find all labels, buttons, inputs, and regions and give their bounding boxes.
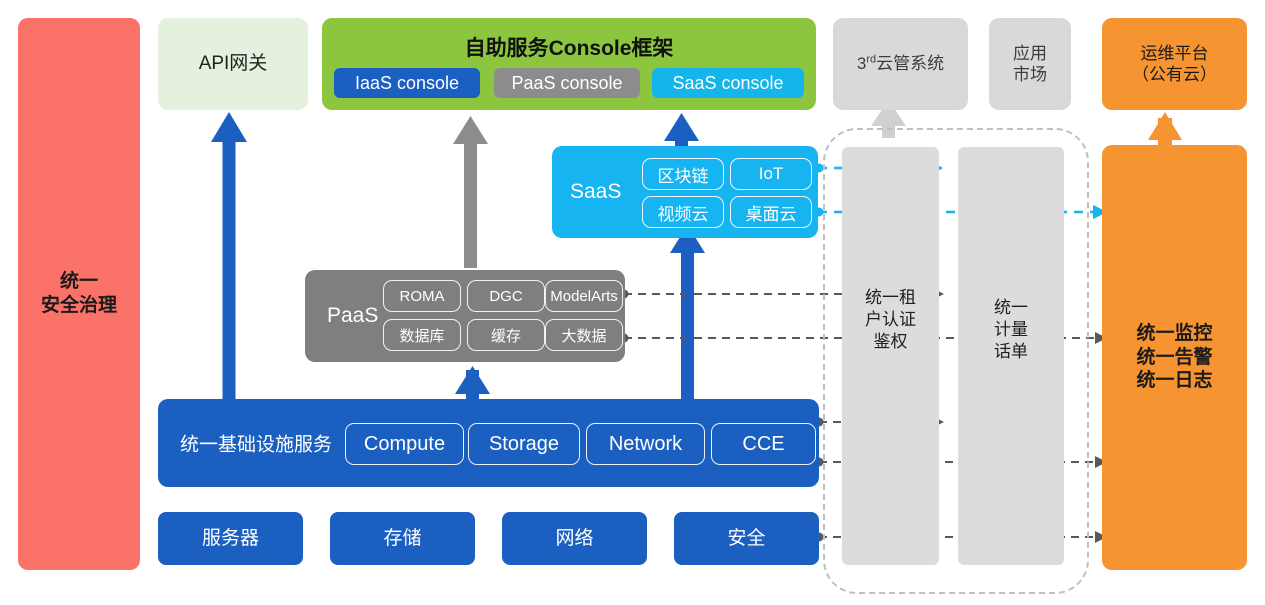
api-gateway-box[interactable]: API网关: [158, 18, 308, 110]
saas-item-desktop-cloud-label: 桌面云: [746, 200, 797, 225]
saas-item-video-cloud[interactable]: 视频云: [642, 196, 724, 228]
metering-billing-column[interactable]: 统一 计量 话单: [958, 147, 1064, 565]
resource-box-security[interactable]: 安全: [674, 512, 819, 565]
ops-column-line3: 统一日志: [1136, 369, 1212, 393]
app-market-box[interactable]: 应用 市场: [989, 18, 1071, 110]
security-governance-line1: 统一: [60, 270, 98, 294]
infra-item-network-label: Network: [609, 433, 682, 456]
third-party-cloud-management-label: 3rd云管系统: [857, 53, 944, 74]
arrow-infra-to-api-gateway: [211, 112, 247, 412]
saas-panel[interactable]: SaaS 区块链 IoT 视频云 桌面云: [552, 146, 818, 238]
saas-item-iot-label: IoT: [759, 164, 784, 184]
tenant-auth-column[interactable]: 统一租 户认证 鉴权: [842, 147, 939, 565]
infra-item-storage-label: Storage: [489, 433, 559, 456]
paas-item-cache[interactable]: 缓存: [467, 319, 545, 351]
infra-item-cce[interactable]: CCE: [711, 423, 816, 465]
metering-billing-column-text: 统一 计量 话单: [958, 297, 1064, 363]
third-party-suffix: 云管系统: [876, 54, 944, 73]
infra-item-cce-label: CCE: [742, 433, 784, 456]
paas-item-roma-label: ROMA: [400, 288, 445, 305]
ops-column[interactable]: 统一监控 统一告警 统一日志: [1102, 145, 1247, 570]
chip-saas-console[interactable]: SaaS console: [652, 68, 804, 98]
third-party-cloud-management-box[interactable]: 3rd云管系统: [833, 18, 968, 110]
app-market-line2: 市场: [1013, 64, 1047, 85]
tenant-auth-line3: 鉴权: [842, 331, 939, 353]
chip-iaas-console[interactable]: IaaS console: [334, 68, 480, 98]
saas-item-blockchain[interactable]: 区块链: [642, 158, 724, 190]
saas-item-iot[interactable]: IoT: [730, 158, 812, 190]
metering-line1: 统一: [958, 297, 1064, 319]
resource-box-server[interactable]: 服务器: [158, 512, 303, 565]
saas-item-desktop-cloud[interactable]: 桌面云: [730, 196, 812, 228]
api-gateway-label: API网关: [199, 52, 268, 76]
resource-box-network-label: 网络: [555, 527, 593, 551]
paas-item-bigdata[interactable]: 大数据: [545, 319, 623, 351]
architecture-diagram: 统一 安全治理 API网关 自助服务Console框架 IaaS console…: [0, 0, 1265, 605]
chip-paas-console[interactable]: PaaS console: [494, 68, 640, 98]
console-framework-title: 自助服务Console框架: [322, 32, 816, 62]
resource-box-security-label: 安全: [727, 527, 765, 551]
resource-box-network[interactable]: 网络: [502, 512, 647, 565]
security-governance-line2: 安全治理: [41, 294, 117, 318]
resource-box-storage[interactable]: 存储: [330, 512, 475, 565]
paas-item-dgc-label: DGC: [489, 288, 522, 305]
arrow-infra-to-saas: [670, 225, 705, 412]
tenant-auth-line2: 户认证: [842, 309, 939, 331]
metering-line2: 计量: [958, 319, 1064, 341]
infra-item-compute-label: Compute: [364, 433, 445, 456]
paas-item-modelarts-label: ModelArts: [550, 288, 618, 305]
chip-iaas-console-label: IaaS console: [355, 73, 459, 94]
chip-paas-console-label: PaaS console: [511, 73, 622, 94]
saas-item-blockchain-label: 区块链: [658, 162, 709, 187]
paas-panel[interactable]: PaaS ROMA DGC ModelArts 数据库 缓存 大数据: [305, 270, 625, 362]
ops-platform-box[interactable]: 运维平台 （公有云）: [1102, 18, 1247, 110]
app-market-line1: 应用: [1013, 43, 1047, 64]
paas-item-bigdata-label: 大数据: [561, 325, 606, 346]
paas-item-dgc[interactable]: DGC: [467, 280, 545, 312]
resource-box-server-label: 服务器: [202, 527, 259, 551]
infrastructure-label: 统一基础设施服务: [180, 430, 332, 457]
third-party-prefix: 3: [857, 54, 866, 73]
infrastructure-bar[interactable]: 统一基础设施服务 Compute Storage Network CCE: [158, 399, 819, 487]
metering-line3: 话单: [958, 341, 1064, 363]
arrow-ops-column-to-platform: [1148, 112, 1182, 146]
infra-item-network[interactable]: Network: [586, 423, 705, 465]
ops-platform-line1: 运维平台: [1141, 43, 1209, 64]
paas-item-cache-label: 缓存: [491, 325, 521, 346]
paas-item-database-label: 数据库: [399, 325, 444, 346]
security-governance-column[interactable]: 统一 安全治理: [18, 18, 140, 570]
paas-item-database[interactable]: 数据库: [383, 319, 461, 351]
arrow-paas-to-console: [453, 116, 488, 268]
tenant-auth-line1: 统一租: [842, 287, 939, 309]
paas-label: PaaS: [327, 304, 378, 328]
saas-label: SaaS: [570, 180, 621, 204]
paas-item-roma[interactable]: ROMA: [383, 280, 461, 312]
console-framework-panel[interactable]: 自助服务Console框架 IaaS console PaaS console …: [322, 18, 816, 110]
ops-column-line1: 统一监控: [1136, 322, 1212, 346]
saas-item-video-cloud-label: 视频云: [658, 200, 709, 225]
resource-box-storage-label: 存储: [383, 527, 421, 551]
paas-item-modelarts[interactable]: ModelArts: [545, 280, 623, 312]
chip-saas-console-label: SaaS console: [672, 73, 783, 94]
infra-item-storage[interactable]: Storage: [468, 423, 580, 465]
ops-platform-line2: （公有云）: [1132, 64, 1217, 85]
third-party-sup: rd: [866, 54, 876, 66]
infra-item-compute[interactable]: Compute: [345, 423, 464, 465]
tenant-auth-column-text: 统一租 户认证 鉴权: [842, 287, 939, 353]
ops-column-line2: 统一告警: [1136, 346, 1212, 370]
